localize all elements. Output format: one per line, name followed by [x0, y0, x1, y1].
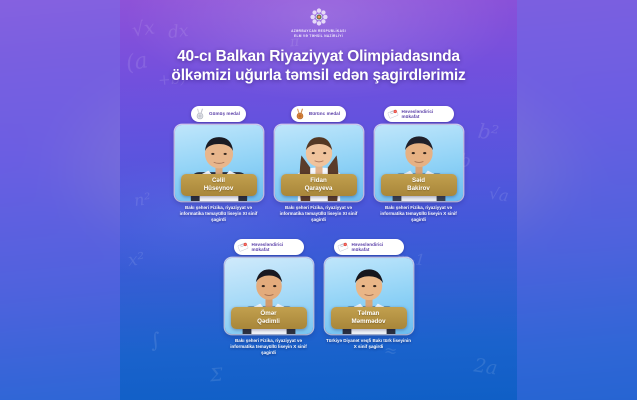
page-title: 40-cı Balkan Riyaziyyat Olimpiadasında ö… — [130, 47, 507, 85]
award-badge: Bürünc medal — [291, 106, 346, 122]
student-card: Bürünc medal Fidan — [275, 106, 363, 222]
diploma-scroll-icon — [387, 108, 399, 120]
azerbaijan-state-emblem-icon — [308, 6, 330, 28]
award-badge: Həvəsləndirici mükafat — [334, 239, 404, 255]
award-badge-label: Həvəsləndirici mükafat — [352, 242, 398, 253]
student-last-name: Qədimli — [233, 318, 305, 325]
ministry-line-2: ELM VƏ TƏHSİL NAZİRLİYİ — [294, 34, 343, 38]
student-card: Həvəsləndirici mükafat Səid — [375, 106, 463, 222]
student-nameplate: Cəlil Hüseynov — [181, 174, 257, 196]
award-badge: Həvəsləndirici mükafat — [384, 106, 454, 122]
student-school-caption: Bakı şəhəri Fizika, riyaziyyat və inform… — [175, 205, 263, 222]
poster-stage: √x dx (a +b) b² √b √a 2a m-1 n² x² ∫ Σ ≈… — [0, 0, 637, 400]
student-card: Həvəsləndirici mükafat Təlman — [325, 239, 413, 355]
student-school-caption: Türkiyə Diyanət vəqfi Bakı türk liseyini… — [325, 338, 413, 350]
award-badge-label: Həvəsləndirici mükafat — [252, 242, 298, 253]
student-last-name: Qarayeva — [283, 185, 355, 192]
diploma-scroll-icon — [337, 241, 349, 253]
student-photo: Cəlil Hüseynov — [175, 125, 263, 201]
student-nameplate: Səid Bakirov — [381, 174, 457, 196]
bronze-medal-icon — [294, 108, 306, 120]
math-glyph: Σ — [209, 365, 223, 387]
student-school-caption: Bakı şəhəri Fizika, riyaziyyat və inform… — [275, 205, 363, 222]
student-photo: Fidan Qarayeva — [275, 125, 363, 201]
award-badge-label: Həvəsləndirici mükafat — [402, 109, 448, 120]
student-card: Həvəsləndirici mükafat Ömər — [225, 239, 313, 355]
student-photo: Təlman Məmmədov — [325, 258, 413, 334]
diploma-scroll-icon — [237, 241, 249, 253]
student-school-caption: Bakı şəhəri Fizika, riyaziyyat və inform… — [375, 205, 463, 222]
student-photo: Səid Bakirov — [375, 125, 463, 201]
student-last-name: Bakirov — [383, 185, 455, 192]
math-glyph: 2a — [472, 354, 498, 379]
ministry-line-1: AZƏRBAYCAN RESPUBLİKASI — [291, 29, 346, 33]
ministry-header: AZƏRBAYCAN RESPUBLİKASI ELM VƏ TƏHSİL NA… — [120, 6, 517, 38]
student-row-top: Gümüş medal Cəlil Hüs — [120, 106, 517, 222]
headline-line-1: 40-cı Balkan Riyaziyyat Olimpiadasında — [130, 47, 507, 66]
headline-line-2: ölkəmizi uğurla təmsil edən şagirdlərimi… — [130, 66, 507, 85]
award-badge-label: Gümüş medal — [209, 111, 240, 116]
silver-medal-icon — [194, 108, 206, 120]
award-badge: Həvəsləndirici mükafat — [234, 239, 304, 255]
student-last-name: Məmmədov — [333, 318, 405, 325]
student-nameplate: Ömər Qədimli — [231, 307, 307, 329]
student-nameplate: Təlman Məmmədov — [331, 307, 407, 329]
award-badge-label: Bürünc medal — [309, 111, 340, 116]
student-card: Gümüş medal Cəlil Hüs — [175, 106, 263, 222]
student-nameplate: Fidan Qarayeva — [281, 174, 357, 196]
student-first-name: Fidan — [283, 177, 355, 184]
student-first-name: Təlman — [333, 310, 405, 317]
student-photo: Ömər Qədimli — [225, 258, 313, 334]
student-first-name: Ömər — [233, 310, 305, 317]
award-badge: Gümüş medal — [191, 106, 246, 122]
student-school-caption: Bakı şəhəri Fizika, riyaziyyat və inform… — [225, 338, 313, 355]
poster-image: √x dx (a +b) b² √b √a 2a m-1 n² x² ∫ Σ ≈… — [120, 0, 517, 400]
student-first-name: Cəlil — [183, 177, 255, 184]
student-row-bottom: Həvəsləndirici mükafat Ömər — [120, 239, 517, 355]
student-last-name: Hüseynov — [183, 185, 255, 192]
student-first-name: Səid — [383, 177, 455, 184]
